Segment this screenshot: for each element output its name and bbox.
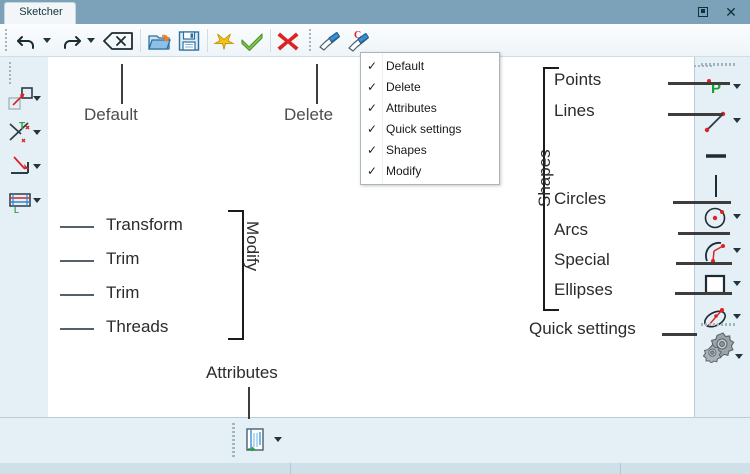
tab-sketcher[interactable]: Sketcher — [4, 2, 76, 24]
menu-item-modify[interactable]: ✓ Modify — [361, 161, 499, 182]
shapes-leader-2 — [673, 201, 731, 204]
ellipses-dropdown-caret[interactable] — [733, 314, 742, 321]
sketcher-window: Sketcher ✕ — [0, 0, 750, 474]
horizontal-line-icon — [701, 141, 731, 171]
special-dropdown-caret[interactable] — [733, 281, 742, 288]
status-divider-1 — [290, 463, 291, 474]
delete-leader-line — [316, 64, 318, 104]
maximize-icon — [698, 7, 708, 17]
trim-dropdown-caret[interactable] — [33, 130, 42, 137]
quick-settings-dropdown-caret[interactable] — [735, 354, 744, 361]
shapes-item-3: Arcs — [554, 220, 588, 240]
menu-item-shapes-label: Shapes — [386, 143, 427, 157]
open-folder-icon — [147, 28, 173, 54]
cancel-button[interactable] — [211, 28, 237, 54]
menu-item-delete[interactable]: ✓ Delete — [361, 77, 499, 98]
quick-settings-grip-dots — [701, 323, 735, 326]
toolbar-separator-3 — [270, 29, 271, 52]
svg-text:T: T — [19, 121, 25, 132]
left-toolbar-panel: T L — [0, 57, 49, 417]
annotation-quick-settings: Quick settings — [529, 319, 636, 339]
transform-icon — [6, 84, 36, 114]
shapes-leader-3 — [678, 232, 730, 235]
shapes-group-label: Shapes — [535, 149, 555, 207]
modify-leader-1 — [60, 226, 94, 228]
quick-settings-tool-button[interactable] — [703, 329, 737, 363]
undo-icon — [14, 28, 40, 54]
check-icon: ✓ — [366, 123, 378, 135]
trim-corner-dropdown-caret[interactable] — [33, 164, 42, 171]
undo-button[interactable] — [14, 28, 40, 54]
shapes-item-0: Points — [554, 70, 601, 90]
menu-item-quick-settings[interactable]: ✓ Quick settings — [361, 119, 499, 140]
points-tool-button[interactable]: P — [701, 73, 731, 103]
eraser-constraint-icon: C — [345, 28, 371, 54]
quick-settings-leader-line — [662, 333, 697, 336]
close-button[interactable]: ✕ — [722, 3, 740, 21]
menu-item-modify-label: Modify — [386, 164, 421, 178]
default-leader-line — [121, 64, 123, 104]
shapes-item-5: Ellipses — [554, 280, 613, 300]
undo-dropdown-caret[interactable] — [43, 38, 52, 45]
vertical-line-icon — [701, 171, 731, 201]
threads-icon: L — [6, 186, 36, 216]
menu-item-attributes[interactable]: ✓ Attributes — [361, 98, 499, 119]
left-panel-grip[interactable] — [8, 62, 12, 80]
menu-item-quick-settings-label: Quick settings — [386, 122, 461, 136]
open-button[interactable] — [147, 28, 173, 54]
circle-icon — [701, 203, 731, 233]
shapes-leader-1 — [668, 113, 723, 116]
toolbar-separator — [140, 29, 141, 52]
check-icon: ✓ — [366, 165, 378, 177]
tab-sketcher-label: Sketcher — [5, 6, 77, 18]
annotation-default: Default — [84, 105, 138, 125]
annotation-attributes: Attributes — [206, 363, 278, 383]
clear-icon — [101, 28, 135, 54]
clear-button[interactable] — [101, 28, 135, 54]
arcs-dropdown-caret[interactable] — [733, 248, 742, 255]
check-icon: ✓ — [366, 81, 378, 93]
right-toolbar-panel: P — [694, 57, 750, 417]
bottom-panel-grip[interactable] — [232, 423, 235, 457]
transform-dropdown-caret[interactable] — [33, 96, 42, 103]
horizontal-line-tool-button[interactable] — [701, 141, 731, 171]
attributes-leader-line — [248, 387, 250, 419]
lines-tool-button[interactable] — [701, 107, 731, 137]
trim-corner-tool-button[interactable] — [6, 152, 36, 182]
toolbar-grip[interactable] — [4, 29, 8, 53]
trim-icon: T — [6, 118, 36, 148]
shapes-item-2: Circles — [554, 189, 606, 209]
menu-item-default-label: Default — [386, 59, 424, 73]
save-disk-icon — [176, 28, 202, 54]
cancel-star-icon — [211, 28, 237, 54]
svg-text:L: L — [14, 206, 19, 215]
trim-tool-button[interactable]: T — [6, 118, 36, 148]
point-icon: P — [701, 73, 731, 103]
check-icon: ✓ — [366, 60, 378, 72]
svg-text:C: C — [354, 30, 361, 41]
menu-item-attributes-label: Attributes — [386, 101, 437, 115]
gear-icon — [703, 329, 737, 363]
transform-tool-button[interactable] — [6, 84, 36, 114]
toolbar-separator-2 — [207, 29, 208, 52]
menu-item-shapes[interactable]: ✓ Shapes — [361, 140, 499, 161]
modify-item-2: Trim — [106, 283, 139, 303]
redo-icon — [58, 28, 84, 54]
rectangle-icon — [701, 270, 731, 300]
menu-item-delete-label: Delete — [386, 80, 421, 94]
attributes-tool-button[interactable] — [240, 425, 270, 455]
status-bar — [0, 463, 750, 474]
modify-item-0: Transform — [106, 215, 183, 235]
threads-dropdown-caret[interactable] — [33, 198, 42, 205]
shapes-leader-0 — [668, 82, 730, 85]
shapes-leader-4 — [676, 262, 732, 265]
accept-button[interactable] — [239, 28, 265, 54]
maximize-button[interactable] — [694, 3, 712, 21]
delete-button[interactable] — [275, 28, 301, 54]
shapes-item-4: Special — [554, 250, 610, 270]
check-icon: ✓ — [366, 144, 378, 156]
lines-dropdown-caret[interactable] — [733, 118, 742, 125]
redo-dropdown-caret[interactable] — [87, 38, 96, 45]
close-icon: ✕ — [725, 4, 737, 20]
eraser-constraint-button[interactable]: C — [345, 28, 371, 54]
points-dropdown-caret[interactable] — [733, 84, 742, 91]
right-panel-grip-dots — [701, 63, 735, 66]
status-divider-2 — [620, 463, 621, 474]
check-icon — [239, 28, 265, 54]
modify-leader-3 — [60, 294, 94, 296]
attributes-icon — [240, 425, 270, 455]
redo-button[interactable] — [58, 28, 84, 54]
modify-group-label: Modify — [242, 221, 262, 271]
modify-item-1: Trim — [106, 249, 139, 269]
modify-leader-4 — [60, 328, 94, 330]
delete-x-icon — [275, 28, 301, 54]
bottom-toolbar-panel — [0, 417, 750, 464]
eraser-button[interactable] — [316, 28, 342, 54]
shapes-leader-5 — [675, 292, 732, 295]
trim-corner-icon — [6, 152, 36, 182]
eraser-icon — [316, 28, 342, 54]
vertical-line-tool-button[interactable] — [701, 171, 731, 201]
save-button[interactable] — [176, 28, 202, 54]
shapes-item-1: Lines — [554, 101, 595, 121]
threads-tool-button[interactable]: L — [6, 186, 36, 216]
check-icon: ✓ — [366, 102, 378, 114]
toolbar-grip-2[interactable] — [308, 29, 312, 53]
annotation-delete: Delete — [284, 105, 333, 125]
menu-item-default[interactable]: ✓ Default — [361, 56, 499, 77]
attributes-dropdown-caret[interactable] — [274, 437, 283, 444]
circles-tool-button[interactable] — [701, 203, 731, 233]
modify-item-3: Threads — [106, 317, 168, 337]
line-icon — [701, 107, 731, 137]
special-tool-button[interactable] — [701, 270, 731, 300]
toolbar-visibility-menu[interactable]: ✓ Default ✓ Delete ✓ Attributes ✓ Quick … — [360, 52, 500, 185]
modify-leader-2 — [60, 260, 94, 262]
circles-dropdown-caret[interactable] — [733, 214, 742, 221]
title-bar: Sketcher ✕ — [0, 0, 750, 24]
